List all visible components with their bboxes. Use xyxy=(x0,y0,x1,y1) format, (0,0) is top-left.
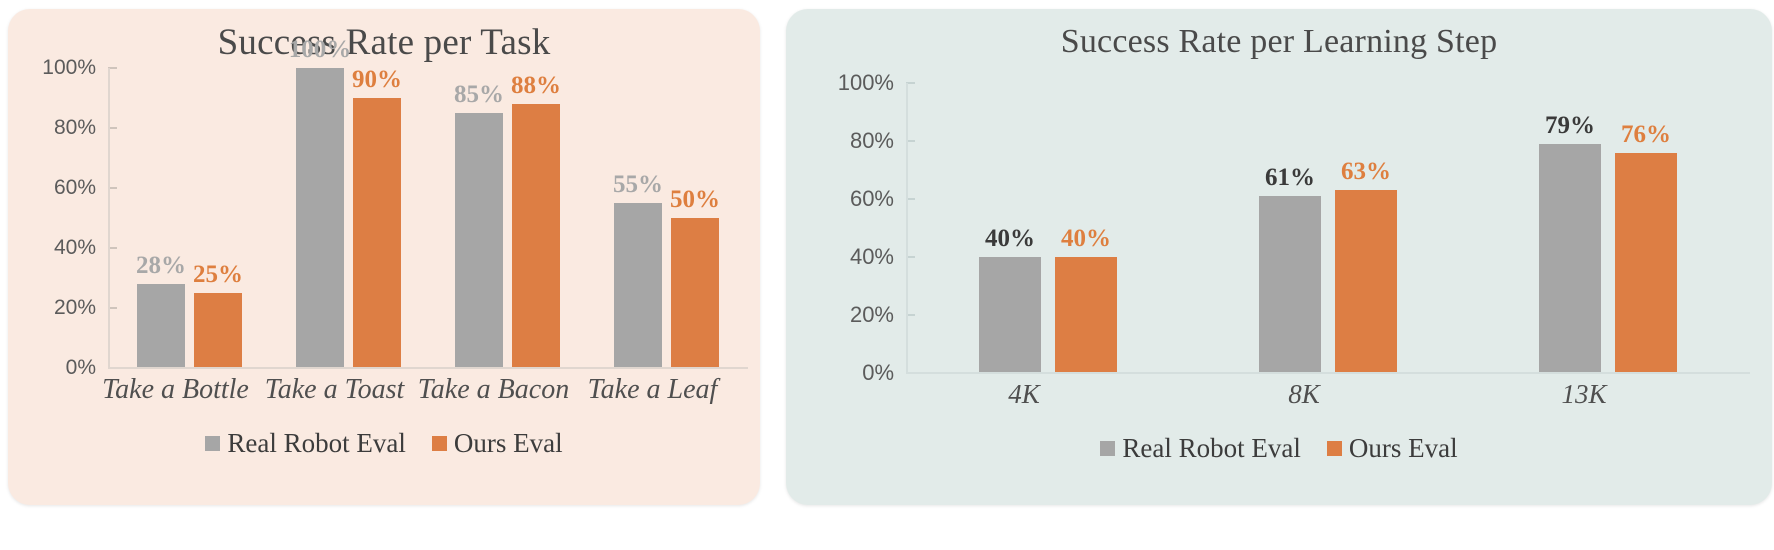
y-axis-tick-label: 60% xyxy=(54,176,96,200)
legend-item-learning-step-1[interactable]: Ours Eval xyxy=(1327,433,1458,464)
bar-task-0-0 xyxy=(137,284,185,368)
bar-value-label: 28% xyxy=(136,252,186,280)
legend-swatch-icon xyxy=(205,436,220,451)
category-label-task-3: Take a Leaf xyxy=(588,374,718,406)
bar-value-label: 55% xyxy=(613,171,663,199)
bar-learning-step-2-1 xyxy=(1615,153,1677,373)
y-axis-tick-label: 100% xyxy=(42,56,96,80)
bar-value-label: 63% xyxy=(1341,158,1391,186)
category-axis-learning-step: 4K8K13K xyxy=(786,373,1772,421)
y-axis-tick-label: 60% xyxy=(850,186,894,212)
bar-value-label: 100% xyxy=(289,36,352,64)
chart-title-learning-step: Success Rate per Learning Step xyxy=(786,9,1772,61)
category-label-task-0: Take a Bottle xyxy=(102,374,249,406)
legend-label: Real Robot Eval xyxy=(1122,433,1300,464)
y-axis-tick-label: 20% xyxy=(54,296,96,320)
bar-learning-step-2-0 xyxy=(1539,144,1601,373)
bar-value-label: 88% xyxy=(511,72,561,100)
bar-value-label: 79% xyxy=(1545,112,1595,140)
bar-learning-step-1-1 xyxy=(1335,190,1397,373)
bar-value-label: 85% xyxy=(454,81,504,109)
bar-value-label: 25% xyxy=(193,261,243,289)
y-axis-tick-label: 40% xyxy=(850,244,894,270)
legend-swatch-icon xyxy=(432,436,447,451)
bar-task-1-1 xyxy=(353,98,401,368)
bar-task-2-1 xyxy=(512,104,560,368)
bar-task-3-0 xyxy=(614,203,662,368)
bar-value-label: 40% xyxy=(1061,225,1111,253)
legend-learning-step: Real Robot EvalOurs Eval xyxy=(786,433,1772,464)
legend-label: Ours Eval xyxy=(454,428,563,459)
chart-panel-task: Success Rate per Task 0%20%40%60%80%100%… xyxy=(8,9,760,505)
category-label-learning-step-0: 4K xyxy=(1008,379,1040,410)
category-label-learning-step-1: 8K xyxy=(1288,379,1320,410)
legend-swatch-icon xyxy=(1327,441,1342,456)
bar-task-0-1 xyxy=(194,293,242,368)
y-axis-line xyxy=(906,83,908,373)
plot-area-learning-step: 0%20%40%60%80%100% 40%40%61%63%79%76% xyxy=(810,83,1748,373)
charts-board: Success Rate per Task 0%20%40%60%80%100%… xyxy=(0,0,1774,550)
y-axis-tick-label: 40% xyxy=(54,236,96,260)
category-label-learning-step-2: 13K xyxy=(1561,379,1606,410)
bars-area-task: 28%25%100%90%85%88%55%50% xyxy=(110,68,746,368)
bar-task-3-1 xyxy=(671,218,719,368)
bar-learning-step-0-1 xyxy=(1055,257,1117,373)
legend-label: Ours Eval xyxy=(1349,433,1458,464)
bar-learning-step-0-0 xyxy=(979,257,1041,373)
legend-task: Real Robot EvalOurs Eval xyxy=(8,428,760,459)
y-axis-line xyxy=(108,68,110,368)
bars-area-learning-step: 40%40%61%63%79%76% xyxy=(908,83,1748,373)
legend-item-learning-step-0[interactable]: Real Robot Eval xyxy=(1100,433,1300,464)
category-axis-task: Take a BottleTake a ToastTake a BaconTak… xyxy=(8,368,760,416)
bar-value-label: 90% xyxy=(352,66,402,94)
chart-panel-learning-step: Success Rate per Learning Step 0%20%40%6… xyxy=(786,9,1772,505)
bar-value-label: 50% xyxy=(670,186,720,214)
legend-item-task-1[interactable]: Ours Eval xyxy=(432,428,563,459)
category-label-task-1: Take a Toast xyxy=(265,374,405,406)
bar-task-1-0 xyxy=(296,68,344,368)
bar-task-2-0 xyxy=(455,113,503,368)
legend-item-task-0[interactable]: Real Robot Eval xyxy=(205,428,405,459)
legend-swatch-icon xyxy=(1100,441,1115,456)
y-axis-tick-label: 80% xyxy=(54,116,96,140)
y-axis-task: 0%20%40%60%80%100% xyxy=(22,68,108,368)
plot-area-task: 0%20%40%60%80%100% 28%25%100%90%85%88%55… xyxy=(22,68,746,368)
bar-value-label: 40% xyxy=(985,225,1035,253)
y-axis-tick-label: 100% xyxy=(838,70,894,96)
bar-value-label: 61% xyxy=(1265,164,1315,192)
y-axis-tick-label: 20% xyxy=(850,302,894,328)
bar-value-label: 76% xyxy=(1621,121,1671,149)
y-axis-learning-step: 0%20%40%60%80%100% xyxy=(810,83,906,373)
y-axis-tick-label: 80% xyxy=(850,128,894,154)
category-label-task-2: Take a Bacon xyxy=(418,374,569,406)
chart-title-task: Success Rate per Task xyxy=(8,9,760,64)
bar-learning-step-1-0 xyxy=(1259,196,1321,373)
legend-label: Real Robot Eval xyxy=(227,428,405,459)
